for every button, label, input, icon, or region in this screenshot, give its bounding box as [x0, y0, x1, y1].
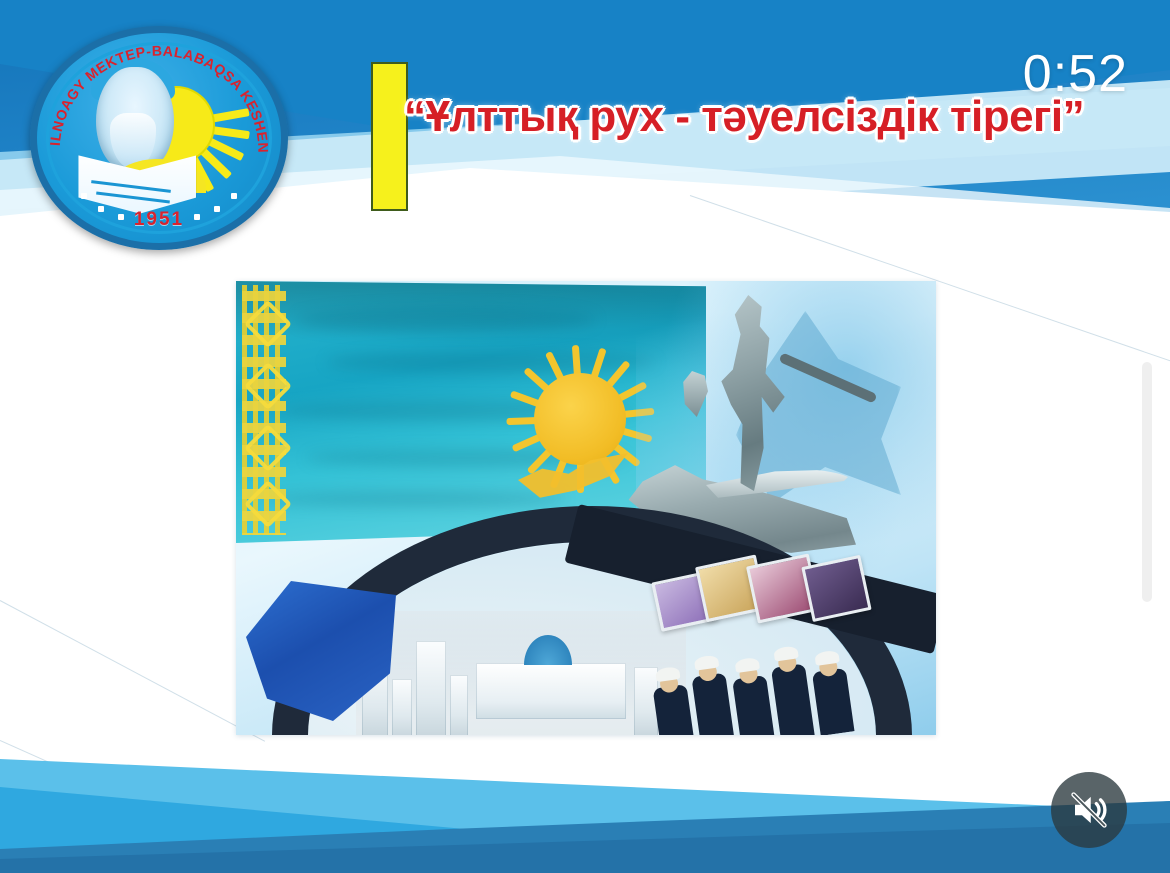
title-accent-bar	[371, 62, 408, 211]
logo-arc-text-path: ABAI AILNOAGY MEKTEP-BALABAQSA KESHENI K…	[37, 33, 270, 153]
akorda-palace-dome	[524, 635, 572, 665]
flag-fold	[326, 351, 656, 373]
slide-content-image	[236, 281, 936, 735]
mute-button[interactable]	[1051, 772, 1127, 848]
person-figure	[771, 663, 815, 735]
city-building	[416, 641, 446, 735]
flag-sun-icon	[534, 373, 626, 465]
school-logo: ABAI AILNOAGY MEKTEP-BALABAQSA KESHENI K…	[30, 26, 288, 250]
speaker-muted-icon	[1068, 789, 1110, 831]
person-figure	[653, 684, 696, 735]
person-figure	[732, 675, 775, 735]
akorda-palace-body	[476, 663, 626, 719]
flag-fold	[266, 491, 566, 507]
background-hairline	[0, 600, 265, 742]
logo-year-label: 1951	[37, 209, 281, 231]
logo-disc: ABAI AILNOAGY MEKTEP-BALABAQSA KESHENI K…	[30, 26, 288, 250]
svg-text:ABAI AILNOAGY MEKTEP-BALABAQSA: ABAI AILNOAGY MEKTEP-BALABAQSA KESHENI K…	[37, 33, 270, 153]
slide-title: “Ұлттық рух - тәуелсіздік тірегі”	[404, 92, 1104, 142]
playback-timer: 0:52	[1023, 44, 1128, 104]
city-building	[392, 679, 412, 735]
city-building	[450, 675, 468, 735]
page-scrollbar-track[interactable]	[1150, 0, 1164, 873]
person-figure	[691, 673, 735, 735]
page-scrollbar-thumb[interactable]	[1142, 362, 1152, 602]
flag-fold	[296, 307, 596, 333]
person-figure	[812, 668, 855, 735]
presentation-viewer: ABAI AILNOAGY MEKTEP-BALABAQSA KESHENI K…	[0, 0, 1170, 873]
